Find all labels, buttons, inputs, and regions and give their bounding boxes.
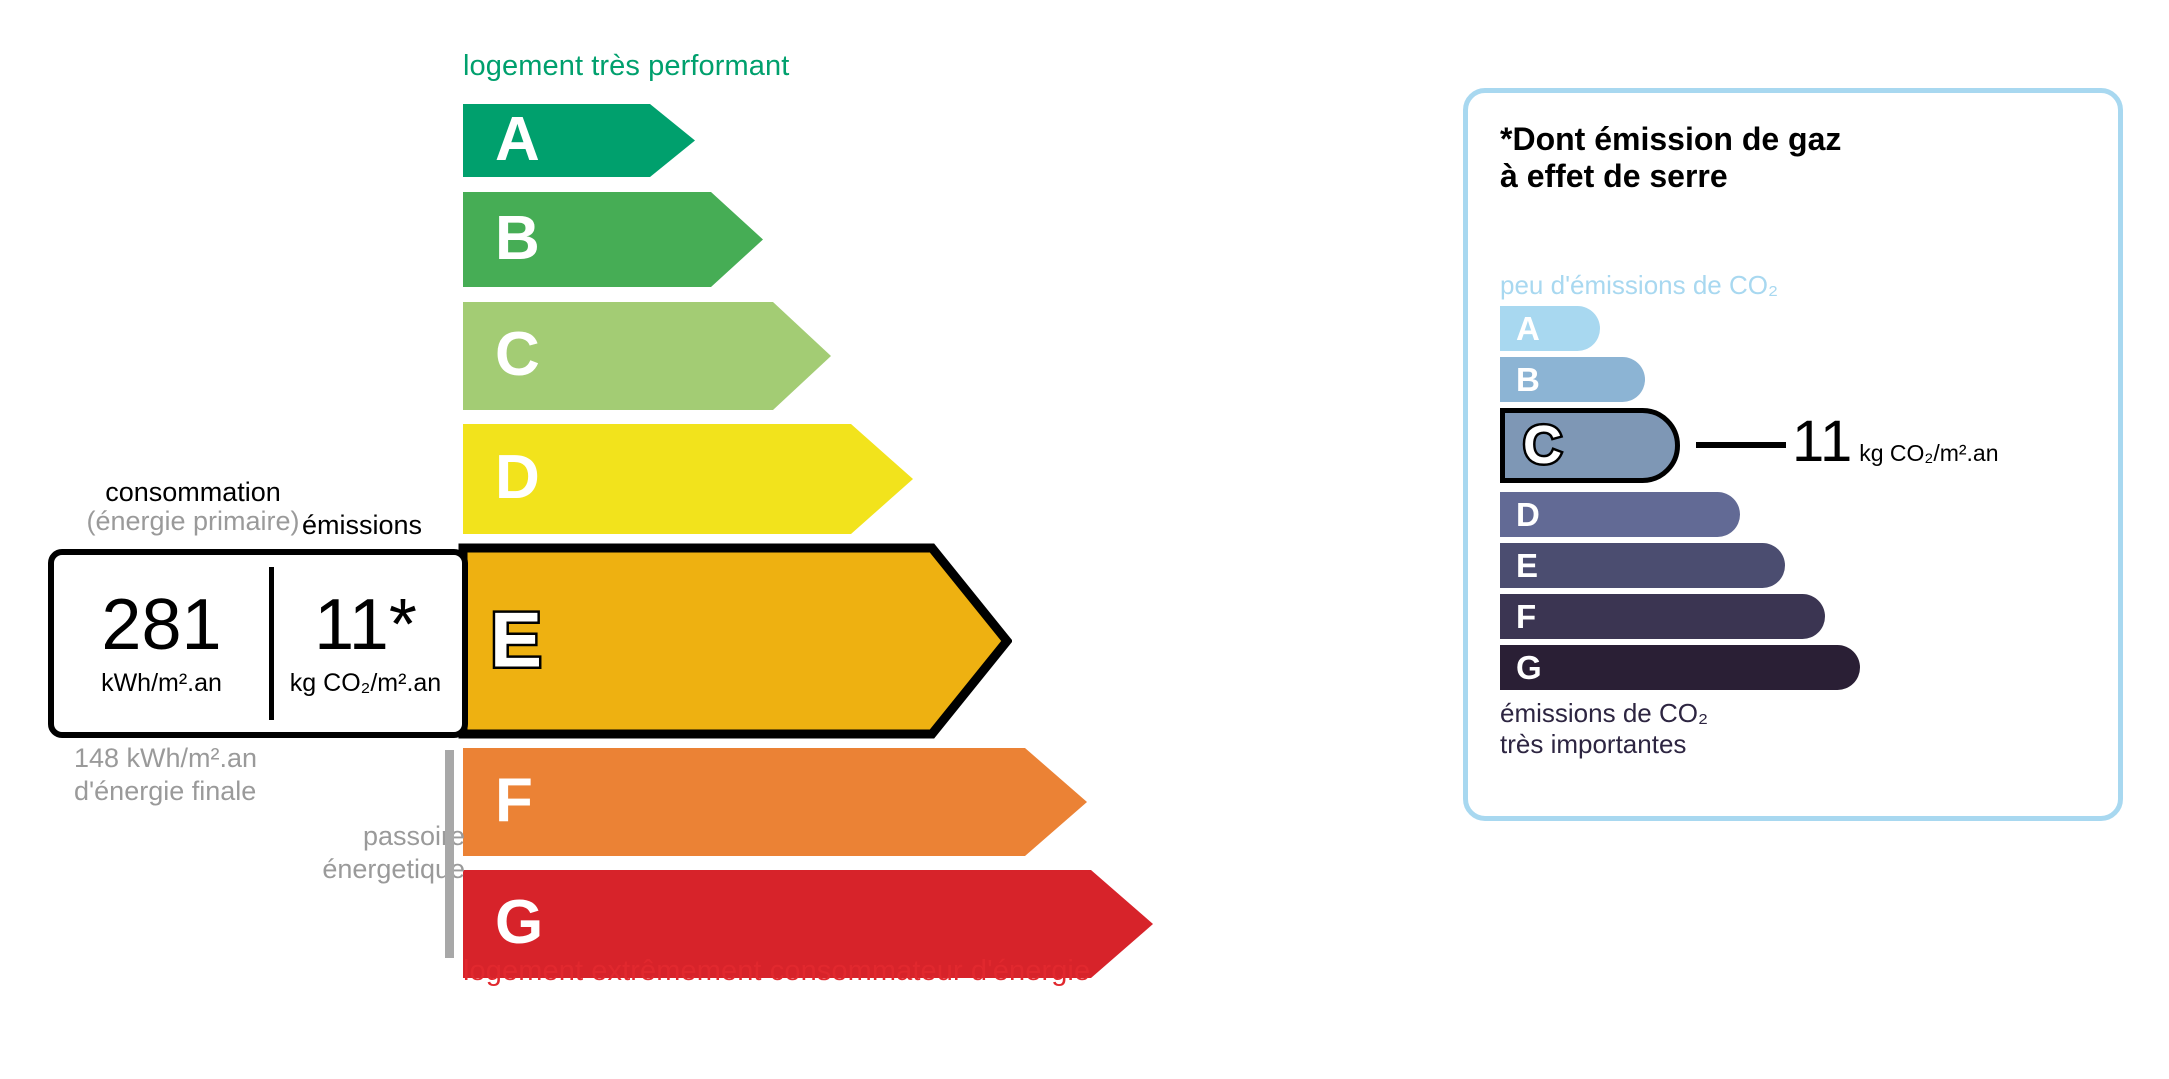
consumption-unit: kWh/m².an	[101, 669, 222, 698]
consumption-header-line2: (énergie primaire)	[63, 507, 323, 536]
co2-bar-g: G	[1500, 645, 1860, 690]
consumption-value-cell: 281 kWh/m².an	[54, 555, 269, 732]
co2-bottom-label: émissions de CO₂ très importantes	[1500, 698, 1708, 760]
energy-performance-panel: logement très performant ABCDEFG logemen…	[0, 0, 1330, 1079]
energy-bottom-caption: logement extrêmement consommateur d'éner…	[463, 955, 1090, 988]
co2-selected-value: 11kg CO₂/m².an	[1792, 413, 1999, 471]
co2-bar-a: A	[1500, 306, 1600, 351]
co2-bottom-line2: très importantes	[1500, 729, 1708, 760]
co2-bar-letter-a: A	[1516, 311, 1540, 344]
co2-value-unit: kg CO₂/m².an	[1859, 440, 1998, 466]
co2-bar-c: C	[1500, 408, 1680, 483]
consumption-header-line1: consommation	[105, 477, 281, 507]
passoire-energetique-label: passoire énergetique	[285, 820, 465, 886]
co2-bar-letter-d: D	[1516, 497, 1540, 530]
energy-arrow-e: E	[458, 543, 1012, 739]
energy-arrow-c: C	[463, 302, 831, 410]
co2-bar-letter-c: C	[1523, 417, 1562, 471]
emission-value-cell: 11* kg CO₂/m².an	[269, 555, 462, 732]
emission-value: 11*	[314, 589, 417, 661]
co2-bar-letter-f: F	[1516, 599, 1536, 632]
passoire-bracket-line	[445, 750, 454, 958]
co2-bar-d: D	[1500, 492, 1740, 537]
passoire-line1: passoire	[285, 820, 465, 853]
co2-panel-title: *Dont émission de gaz à effet de serre	[1500, 121, 1841, 196]
co2-value-leader-line	[1696, 442, 1786, 448]
consumption-header: consommation (énergie primaire)	[63, 478, 323, 536]
final-energy-note: 148 kWh/m².an d'énergie finale	[74, 742, 257, 808]
energy-top-caption: logement très performant	[463, 50, 789, 83]
energy-arrow-a: A	[463, 104, 695, 177]
co2-bar-e: E	[1500, 543, 1785, 588]
energy-arrow-f: F	[463, 748, 1087, 856]
co2-top-label: peu d'émissions de CO₂	[1500, 270, 1778, 301]
dpe-value-box: 281 kWh/m².an 11* kg CO₂/m².an	[48, 549, 468, 738]
co2-emission-panel: *Dont émission de gaz à effet de serre p…	[1463, 88, 2123, 821]
co2-bar-letter-b: B	[1516, 362, 1540, 395]
final-energy-line2: d'énergie finale	[74, 775, 257, 808]
energy-arrow-b: B	[463, 192, 763, 287]
co2-bar-letter-e: E	[1516, 548, 1538, 581]
emissions-header: émissions	[302, 510, 422, 541]
consumption-value: 281	[101, 589, 221, 661]
energy-arrow-d: D	[463, 424, 913, 534]
co2-bar-f: F	[1500, 594, 1825, 639]
co2-bar-b: B	[1500, 357, 1645, 402]
dpe-diagram: logement très performant ABCDEFG logemen…	[0, 0, 2169, 1079]
passoire-line2: énergetique	[285, 853, 465, 886]
final-energy-line1: 148 kWh/m².an	[74, 742, 257, 775]
emission-unit: kg CO₂/m².an	[290, 669, 441, 698]
co2-title-line1: *Dont émission de gaz	[1500, 121, 1841, 158]
co2-title-line2: à effet de serre	[1500, 158, 1841, 195]
co2-bottom-line1: émissions de CO₂	[1500, 698, 1708, 729]
co2-bar-letter-g: G	[1516, 650, 1542, 683]
co2-value-number: 11	[1792, 409, 1852, 474]
